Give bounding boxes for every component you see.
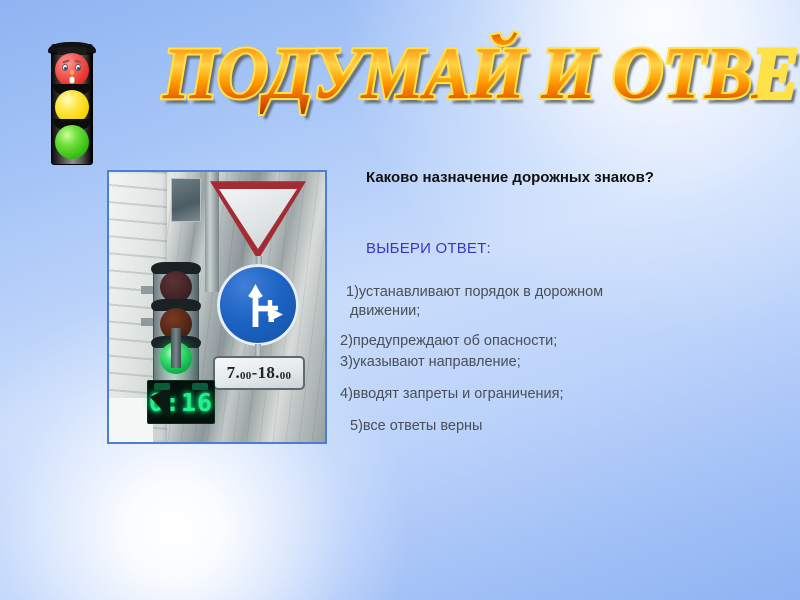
countdown-value: 0:16 xyxy=(149,388,213,417)
answer-option-2[interactable]: 2)предупреждают об опасности; xyxy=(340,332,780,351)
answer-option-3[interactable]: 3)указывают направление; xyxy=(340,353,780,372)
answer-list: 1)устанавливают порядок в дорожном движе… xyxy=(340,283,780,436)
red-light-face-icon xyxy=(55,53,89,87)
answer-option-1[interactable]: 1)устанавливают порядок в дорожном движе… xyxy=(346,283,780,321)
time-restriction-plate: 7.00-18.00 xyxy=(213,356,305,390)
answer-option-5[interactable]: 5)все ответы верны xyxy=(350,417,780,436)
mouth-icon xyxy=(69,76,75,84)
building-window xyxy=(171,178,201,222)
traffic-photo: 7.00-18.00 0:16 xyxy=(107,170,327,444)
answer-option-4[interactable]: 4)вводят запреты и ограничения; xyxy=(340,385,780,404)
give-way-triangle-sign xyxy=(210,178,306,260)
photo-traffic-light xyxy=(153,266,199,386)
choose-answer-label: ВЫБЕРИ ОТВЕТ: xyxy=(366,239,491,259)
countdown-led-tab-right xyxy=(192,383,208,390)
countdown-led-tab-left xyxy=(154,383,170,390)
photo-content: 7.00-18.00 0:16 xyxy=(109,172,325,442)
time-plate-text: 7.00-18.00 xyxy=(227,363,292,383)
countdown-display: 0:16 xyxy=(147,380,215,424)
straight-or-right-arrow-sign xyxy=(217,264,299,346)
nose-icon xyxy=(70,70,74,75)
slide-canvas: ПОДУМАЙ И ОТВЕТЬ... ПОДУМАЙ И ОТВЕТЬ... … xyxy=(0,0,800,600)
arrow-glyph-icon xyxy=(217,264,299,346)
sign-white-field xyxy=(219,189,297,249)
slide-title: ПОДУМАЙ И ОТВЕТЬ... ПОДУМАЙ И ОТВЕТЬ... … xyxy=(150,28,770,120)
traffic-light-mast xyxy=(171,328,181,368)
title-text: ПОДУМАЙ И ОТВЕТЬ... xyxy=(162,28,757,120)
eye-right-icon xyxy=(75,64,81,71)
question-text: Каково назначение дорожных знаков? xyxy=(366,168,696,188)
cartoon-traffic-light-icon xyxy=(51,44,93,165)
green-light-icon xyxy=(55,125,89,159)
eye-left-icon xyxy=(62,64,68,71)
